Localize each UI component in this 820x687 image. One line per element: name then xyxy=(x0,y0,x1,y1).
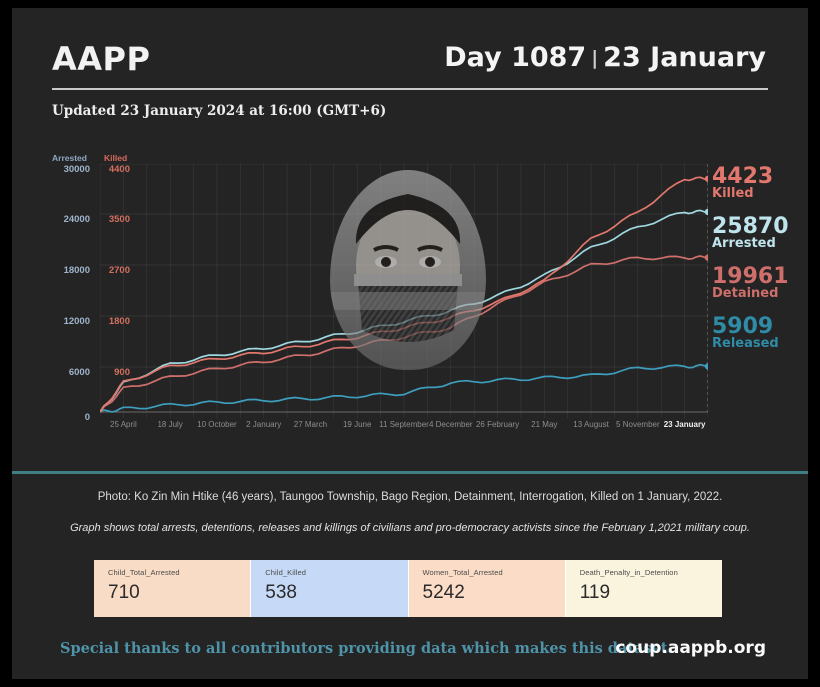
x-axis-tick: 27 March xyxy=(294,420,327,429)
stat-card: Child_Total_Arrested710 xyxy=(94,560,250,617)
x-axis-tick: 19 June xyxy=(343,420,371,429)
left-axis-tick: 24000 xyxy=(34,214,90,225)
left-axis-tick: 12000 xyxy=(34,316,90,327)
stat-card-value: 119 xyxy=(580,582,722,604)
right-axis-title: Killed xyxy=(104,153,127,163)
released-caption: Released xyxy=(712,337,779,351)
detained-caption: Detained xyxy=(712,287,789,301)
photo-credit: Photo: Ko Zin Min Htike (46 years), Taun… xyxy=(12,491,808,503)
x-axis-tick: 23 January xyxy=(664,420,706,429)
x-axis-tick: 5 November xyxy=(616,420,660,429)
arrested-caption: Arrested xyxy=(712,237,789,251)
graph-note: Graph shows total arrests, detentions, r… xyxy=(12,522,808,534)
x-axis-tick: 10 October xyxy=(197,420,237,429)
header-divider xyxy=(52,88,768,90)
stat-card-label: Child_Killed xyxy=(265,568,407,577)
stat-card: Child_Killed538 xyxy=(250,560,407,617)
header: AAPP Day 1087|23 January Updated 23 Janu… xyxy=(12,8,808,128)
killed-endpoint-label: 4423 Killed xyxy=(712,166,773,201)
stat-card-value: 5242 xyxy=(423,582,565,604)
infographic-card: AAPP Day 1087|23 January Updated 23 Janu… xyxy=(12,8,808,679)
released-value: 5909 xyxy=(712,316,779,337)
brand-title: AAPP xyxy=(52,40,150,78)
left-axis-tick: 0 xyxy=(34,412,90,423)
stat-card: Women_Total_Arrested5242 xyxy=(408,560,565,617)
x-axis-tick: 2 January xyxy=(246,420,281,429)
x-axis-tick: 4 December xyxy=(429,420,473,429)
section-divider xyxy=(12,471,808,474)
current-date: 23 January xyxy=(603,42,766,73)
x-axis-tick: 18 July xyxy=(157,420,182,429)
title-separator: | xyxy=(586,47,603,69)
left-axis-title: Arrested xyxy=(52,153,87,163)
arrested-value: 25870 xyxy=(712,216,789,237)
x-axis-tick: 26 February xyxy=(476,420,519,429)
stat-card: Death_Penalty_in_Detention119 xyxy=(565,560,722,617)
left-axis-tick: 30000 xyxy=(34,164,90,175)
website-url: coup.aappb.org xyxy=(615,638,766,658)
released-endpoint-label: 5909 Released xyxy=(712,316,779,351)
stat-cards: Child_Total_Arrested710Child_Killed538Wo… xyxy=(94,560,722,617)
day-date-title: Day 1087|23 January xyxy=(444,42,766,73)
stat-card-value: 710 xyxy=(108,582,250,604)
x-axis-tick: 21 May xyxy=(531,420,557,429)
arrested-endpoint-label: 25870 Arrested xyxy=(712,216,789,251)
chart: Arrested Killed 30000 24000 18000 12000 … xyxy=(12,148,808,453)
day-counter: Day 1087 xyxy=(444,42,586,73)
updated-timestamp: Updated 23 January 2024 at 16:00 (GMT+6) xyxy=(52,103,386,119)
killed-value: 4423 xyxy=(712,166,773,187)
killed-caption: Killed xyxy=(712,187,773,201)
x-axis-tick: 25 April xyxy=(110,420,137,429)
stat-card-value: 538 xyxy=(265,582,407,604)
thanks-text: Special thanks to all contributors provi… xyxy=(60,640,673,657)
stat-card-label: Death_Penalty_in_Detention xyxy=(580,568,722,577)
detained-endpoint-label: 19961 Detained xyxy=(712,266,789,301)
left-axis-tick: 18000 xyxy=(34,265,90,276)
stat-card-label: Women_Total_Arrested xyxy=(423,568,565,577)
x-axis-tick: 13 August xyxy=(573,420,609,429)
left-axis-tick: 6000 xyxy=(34,367,90,378)
detained-value: 19961 xyxy=(712,266,789,287)
stat-card-label: Child_Total_Arrested xyxy=(108,568,250,577)
x-axis-tick: 11 September xyxy=(379,420,429,429)
